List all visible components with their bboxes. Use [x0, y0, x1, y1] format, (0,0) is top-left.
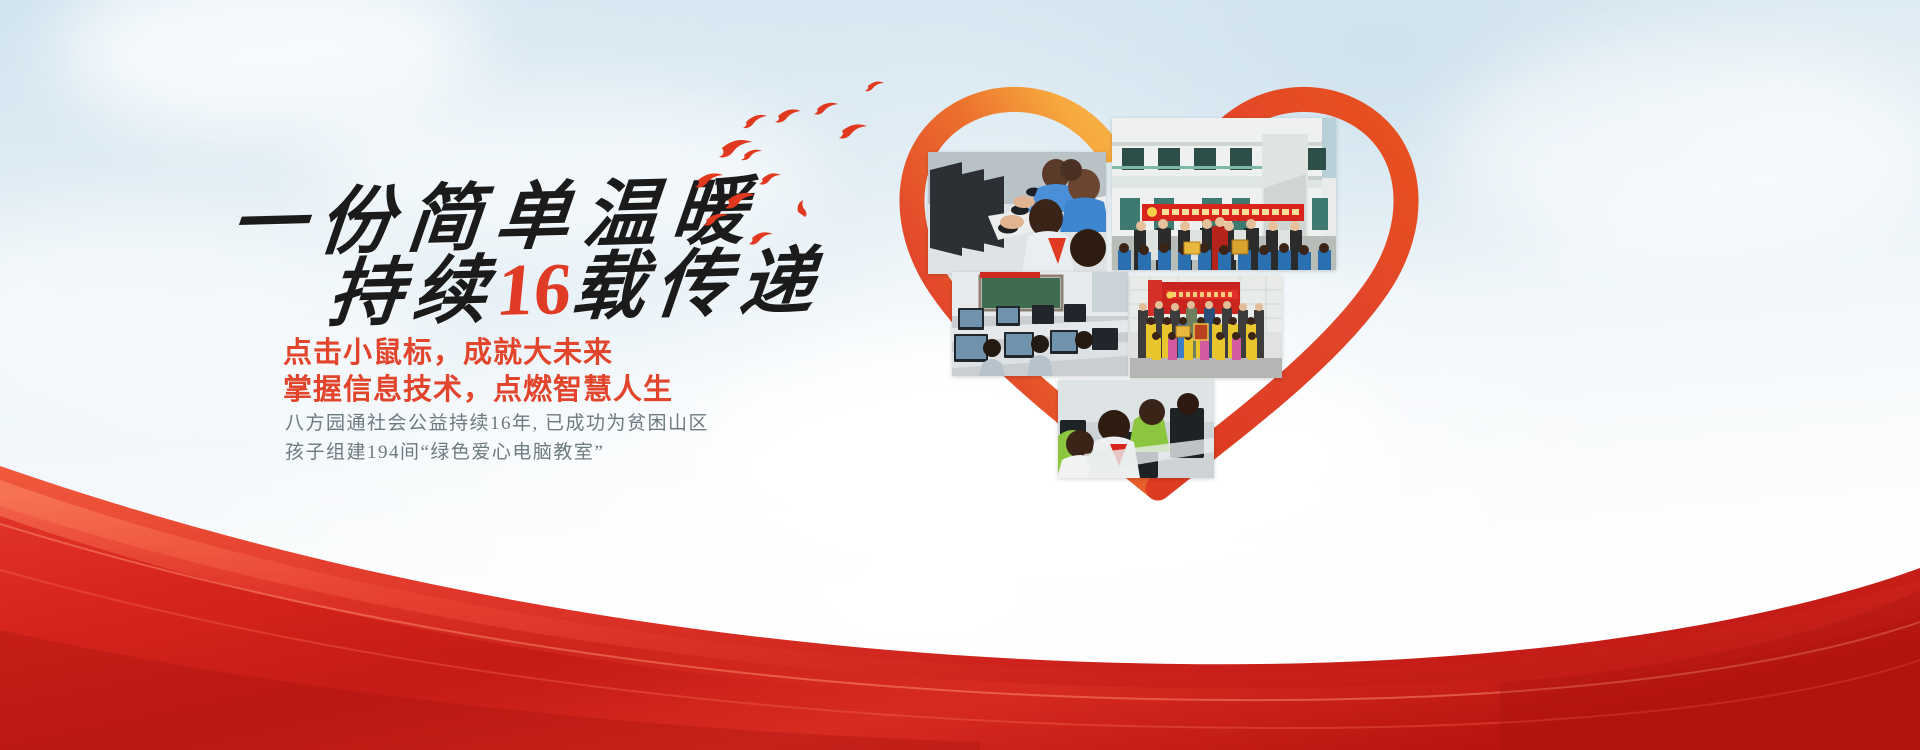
photo-kids-at-computers — [928, 152, 1106, 274]
red-ribbon-wave-icon — [0, 420, 1920, 750]
photo-group-photo-award — [1130, 276, 1282, 378]
headline-years-number: 16 — [493, 248, 575, 332]
charity-banner: 一份简单温暖 持续16载传递 点击小鼠标，成就大未来 掌握信息技术，点燃智慧人生… — [0, 0, 1920, 750]
subheadline-line-2: 掌握信息技术，点燃智慧人生 — [283, 366, 673, 408]
headline-line-2-before: 持续 — [325, 250, 501, 336]
photo-computer-classroom — [952, 272, 1128, 376]
photo-school-donation-ceremony — [1112, 118, 1336, 270]
subheadline-line-1: 点击小鼠标，成就大未来 — [283, 329, 613, 371]
cloud-decor-5 — [1450, 40, 1920, 260]
